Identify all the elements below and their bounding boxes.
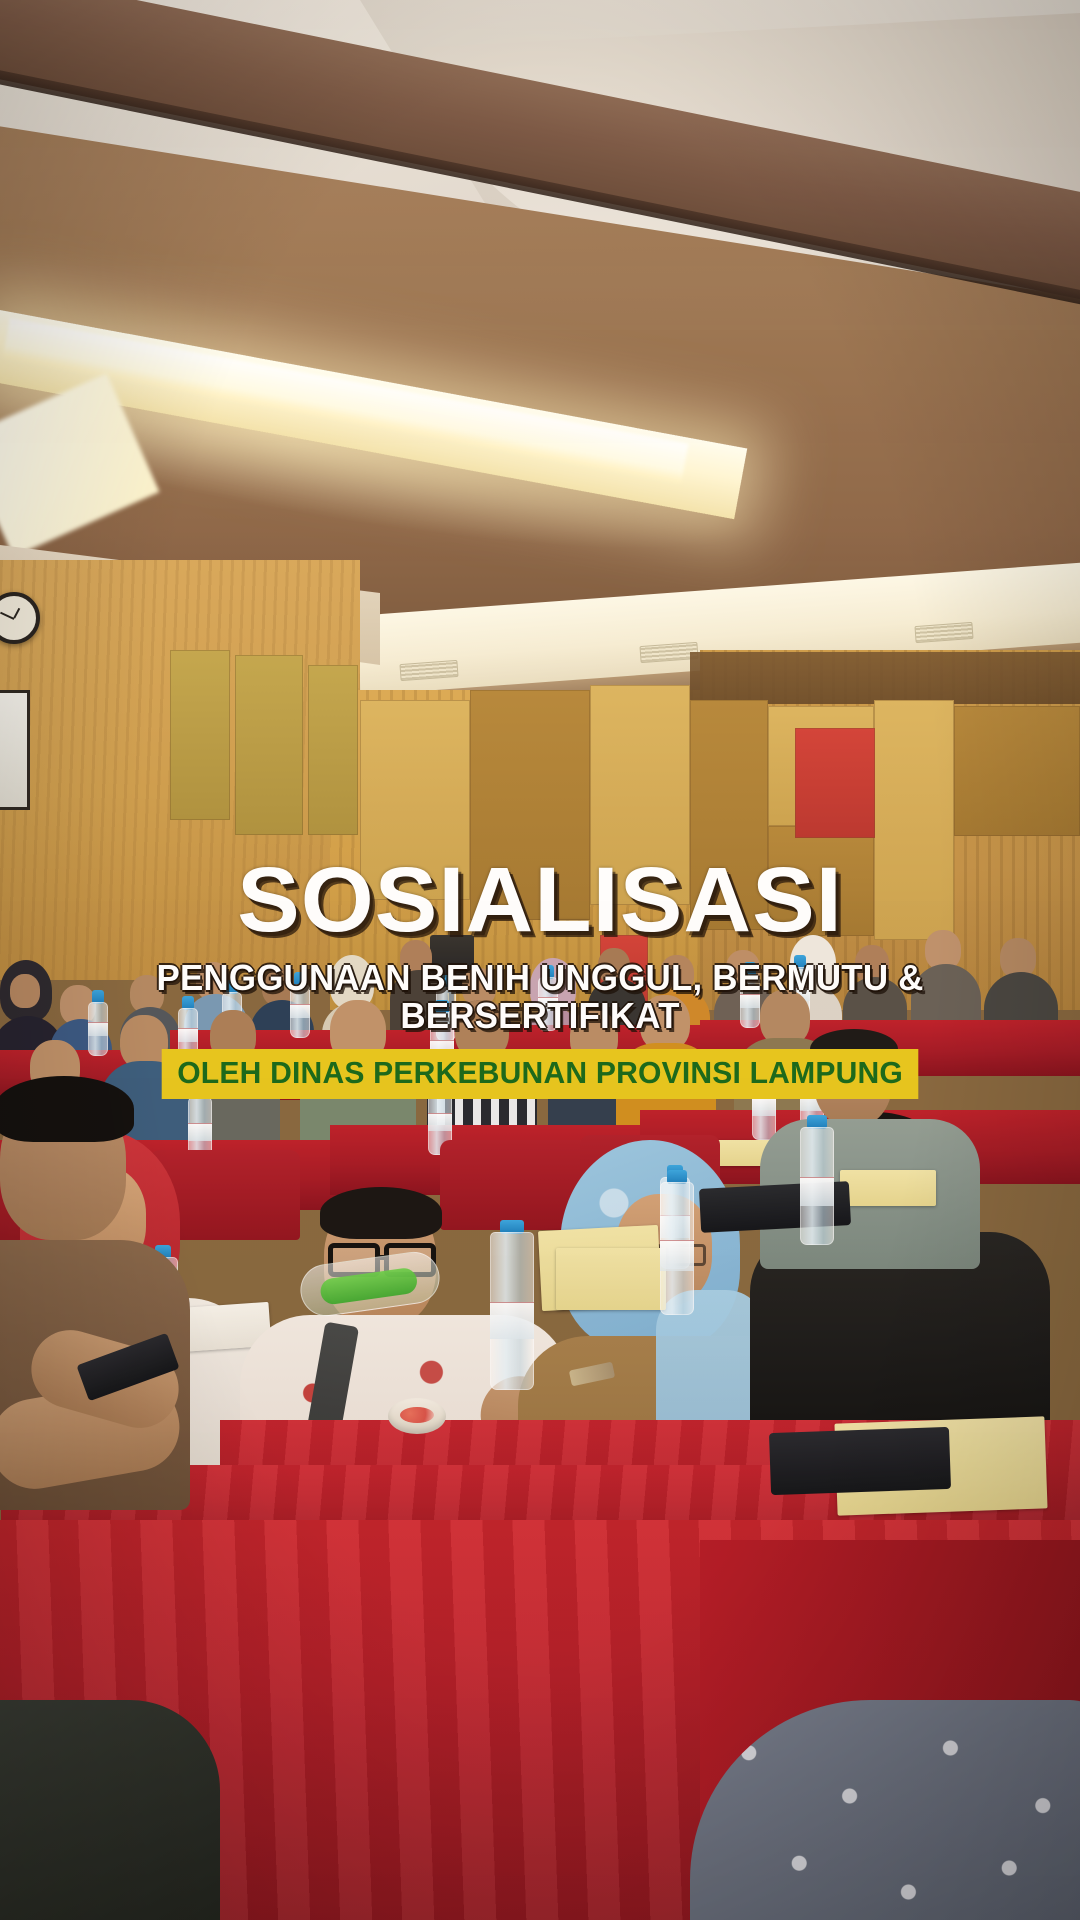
folder — [840, 1170, 936, 1206]
water-bottle — [178, 996, 198, 1062]
water-bottle — [430, 1000, 454, 1084]
water-bottle — [740, 962, 760, 1028]
water-bottle — [660, 1170, 694, 1315]
tablet-device — [769, 1427, 951, 1495]
folder — [556, 1248, 666, 1310]
candy-dish — [388, 1398, 446, 1434]
water-bottle — [800, 1115, 834, 1245]
water-bottle — [752, 1060, 776, 1140]
attendee-sleeve — [0, 1700, 220, 1920]
screenshot-frame: SOSIALISASI PENGGUNAAN BENIH UNGGUL, BER… — [0, 0, 1080, 1920]
audience — [0, 0, 1080, 1920]
water-bottle — [88, 990, 108, 1056]
water-bottle — [490, 1220, 534, 1390]
water-bottle — [538, 965, 558, 1031]
water-bottle — [290, 972, 310, 1038]
